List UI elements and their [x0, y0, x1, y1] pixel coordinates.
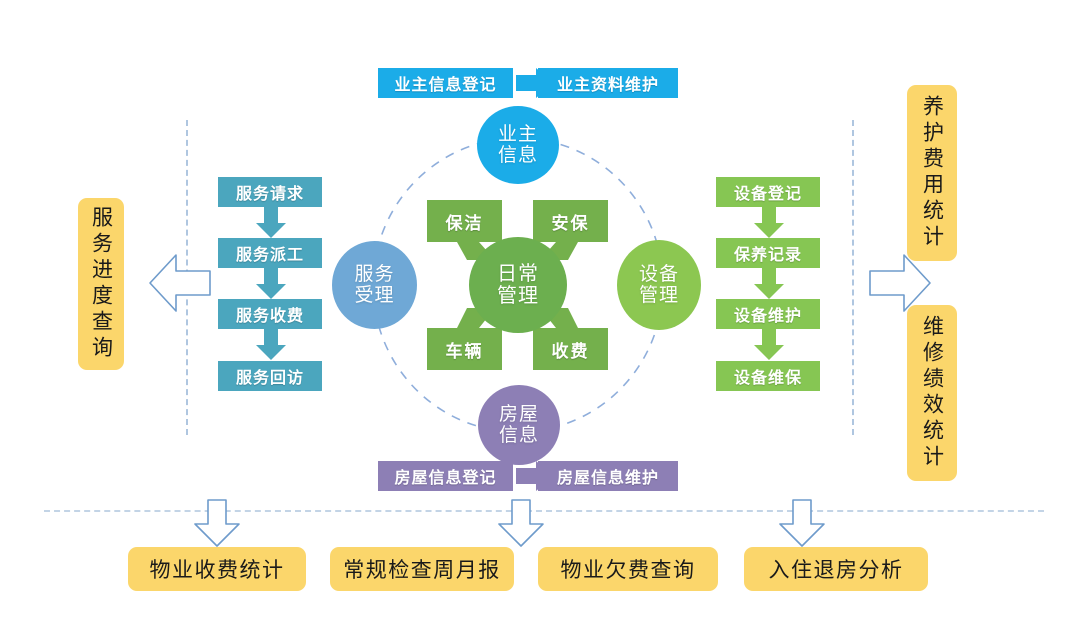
- equipment-step-3[interactable]: 设备维护: [716, 299, 820, 329]
- node-service-desk[interactable]: 服务 受理: [332, 241, 417, 329]
- house-register-bar[interactable]: 房屋信息登记: [378, 461, 513, 491]
- equipment-step-1[interactable]: 设备登记: [716, 177, 820, 207]
- hub-satellite-anbao-label: 安保: [552, 209, 590, 234]
- equipment-arrow-3-icon: [752, 329, 786, 361]
- service-step-3[interactable]: 服务收费: [218, 299, 322, 329]
- bottom-arrow-4-icon: [777, 498, 827, 548]
- equipment-step-4[interactable]: 设备维保: [716, 361, 820, 391]
- node-house-info-line2: 信息: [499, 425, 539, 446]
- diagram-canvas: 业主信息登记 业主资料维护 业主 信息 服务 受理 设备 管理 房屋 信息 保洁: [0, 0, 1080, 625]
- right-output-maintenance-cost[interactable]: 养护费用统计: [907, 85, 957, 261]
- left-output-service-progress-label: 服务进度查询: [91, 206, 112, 362]
- equipment-arrow-2-icon: [752, 268, 786, 300]
- bottom-arrow-1-icon: [192, 498, 242, 548]
- owner-maintain-bar[interactable]: 业主资料维护: [538, 68, 678, 98]
- node-owner-info-line1: 业主: [498, 124, 538, 145]
- bottom-output-fee-stats-label: 物业收费统计: [150, 554, 285, 584]
- owner-register-bar[interactable]: 业主信息登记: [378, 68, 513, 98]
- equipment-step-2[interactable]: 保养记录: [716, 238, 820, 268]
- bottom-output-arrears-query[interactable]: 物业欠费查询: [538, 547, 718, 591]
- right-output-repair-performance[interactable]: 维修绩效统计: [907, 305, 957, 481]
- node-house-info-line1: 房屋: [499, 404, 539, 425]
- service-step-4[interactable]: 服务回访: [218, 361, 322, 391]
- right-output-maintenance-cost-label: 养护费用统计: [922, 95, 943, 251]
- hub-satellite-cheliang-label: 车辆: [446, 337, 484, 362]
- node-equipment-line1: 设备: [639, 264, 679, 285]
- equipment-step-2-label: 保养记录: [734, 241, 802, 265]
- bottom-arrow-3-icon: [496, 498, 546, 548]
- node-service-desk-line2: 受理: [354, 285, 394, 306]
- service-step-2[interactable]: 服务派工: [218, 238, 322, 268]
- equipment-step-3-label: 设备维护: [734, 302, 802, 326]
- left-output-arrow-icon: [148, 252, 212, 314]
- service-arrow-2-icon: [254, 268, 288, 300]
- service-step-4-label: 服务回访: [236, 364, 304, 388]
- bottom-output-occupancy-analysis-label: 入住退房分析: [769, 554, 904, 584]
- node-equipment-line2: 管理: [639, 285, 679, 306]
- bottom-output-inspection-report-label: 常规检查周月报: [343, 554, 501, 584]
- node-house-info[interactable]: 房屋 信息: [478, 385, 560, 465]
- bottom-output-occupancy-analysis[interactable]: 入住退房分析: [744, 547, 928, 591]
- hub-satellite-baojie-label: 保洁: [446, 209, 484, 234]
- service-step-1[interactable]: 服务请求: [218, 177, 322, 207]
- service-step-2-label: 服务派工: [236, 241, 304, 265]
- node-owner-info-line2: 信息: [498, 145, 538, 166]
- hub-satellite-shoufei-label: 收费: [552, 337, 590, 362]
- hub-center-daily-management[interactable]: 日常 管理: [469, 237, 567, 333]
- hub-center-line1: 日常: [497, 263, 539, 285]
- node-service-desk-line1: 服务: [354, 264, 394, 285]
- divider-right-dashed: [852, 120, 854, 435]
- equipment-step-1-label: 设备登记: [734, 180, 802, 204]
- hub-center-line2: 管理: [497, 285, 539, 307]
- bottom-output-fee-stats[interactable]: 物业收费统计: [128, 547, 306, 591]
- right-output-repair-performance-label: 维修绩效统计: [922, 315, 943, 471]
- equipment-arrow-1-icon: [752, 207, 786, 239]
- node-equipment-management[interactable]: 设备 管理: [617, 240, 701, 330]
- service-arrow-1-icon: [254, 207, 288, 239]
- bottom-output-inspection-report[interactable]: 常规检查周月报: [330, 547, 514, 591]
- service-arrow-3-icon: [254, 329, 288, 361]
- service-step-1-label: 服务请求: [236, 180, 304, 204]
- equipment-step-4-label: 设备维保: [734, 364, 802, 388]
- bottom-output-arrears-query-label: 物业欠费查询: [561, 554, 696, 584]
- left-output-service-progress[interactable]: 服务进度查询: [78, 198, 124, 370]
- house-maintain-bar[interactable]: 房屋信息维护: [538, 461, 678, 491]
- service-step-3-label: 服务收费: [236, 302, 304, 326]
- node-owner-info[interactable]: 业主 信息: [477, 106, 559, 184]
